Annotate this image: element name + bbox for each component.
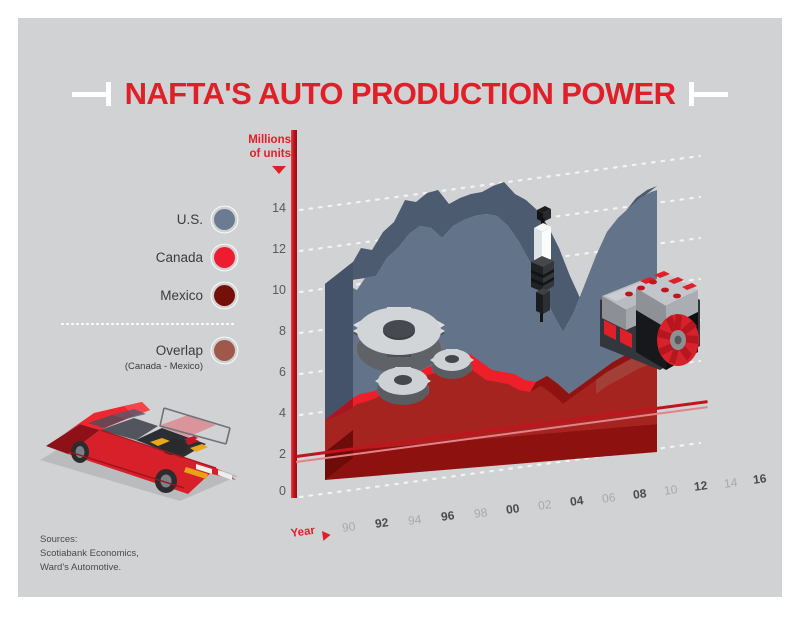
x-tick-label: 02 <box>537 497 552 513</box>
x-tick-label: 10 <box>663 482 678 498</box>
x-tick-label: 90 <box>341 519 356 535</box>
x-tick-label: 92 <box>374 515 389 531</box>
chart-plot-area <box>0 0 800 618</box>
x-tick-label: 98 <box>473 505 488 521</box>
x-tick-label: 00 <box>505 501 520 517</box>
x-tick-label: 94 <box>407 512 422 528</box>
x-tick-label: 16 <box>752 471 767 487</box>
x-tick-label: 96 <box>440 508 455 524</box>
x-tick-label: 12 <box>693 478 708 494</box>
x-tick-label: 04 <box>569 493 584 509</box>
x-tick-label: 06 <box>601 490 616 506</box>
infographic-root: NAFTA'S AUTO PRODUCTION POWER U.S. Canad… <box>0 0 800 618</box>
x-tick-label: 08 <box>632 486 647 502</box>
x-tick-label: 14 <box>723 475 738 491</box>
triangle-right-icon <box>322 530 331 541</box>
